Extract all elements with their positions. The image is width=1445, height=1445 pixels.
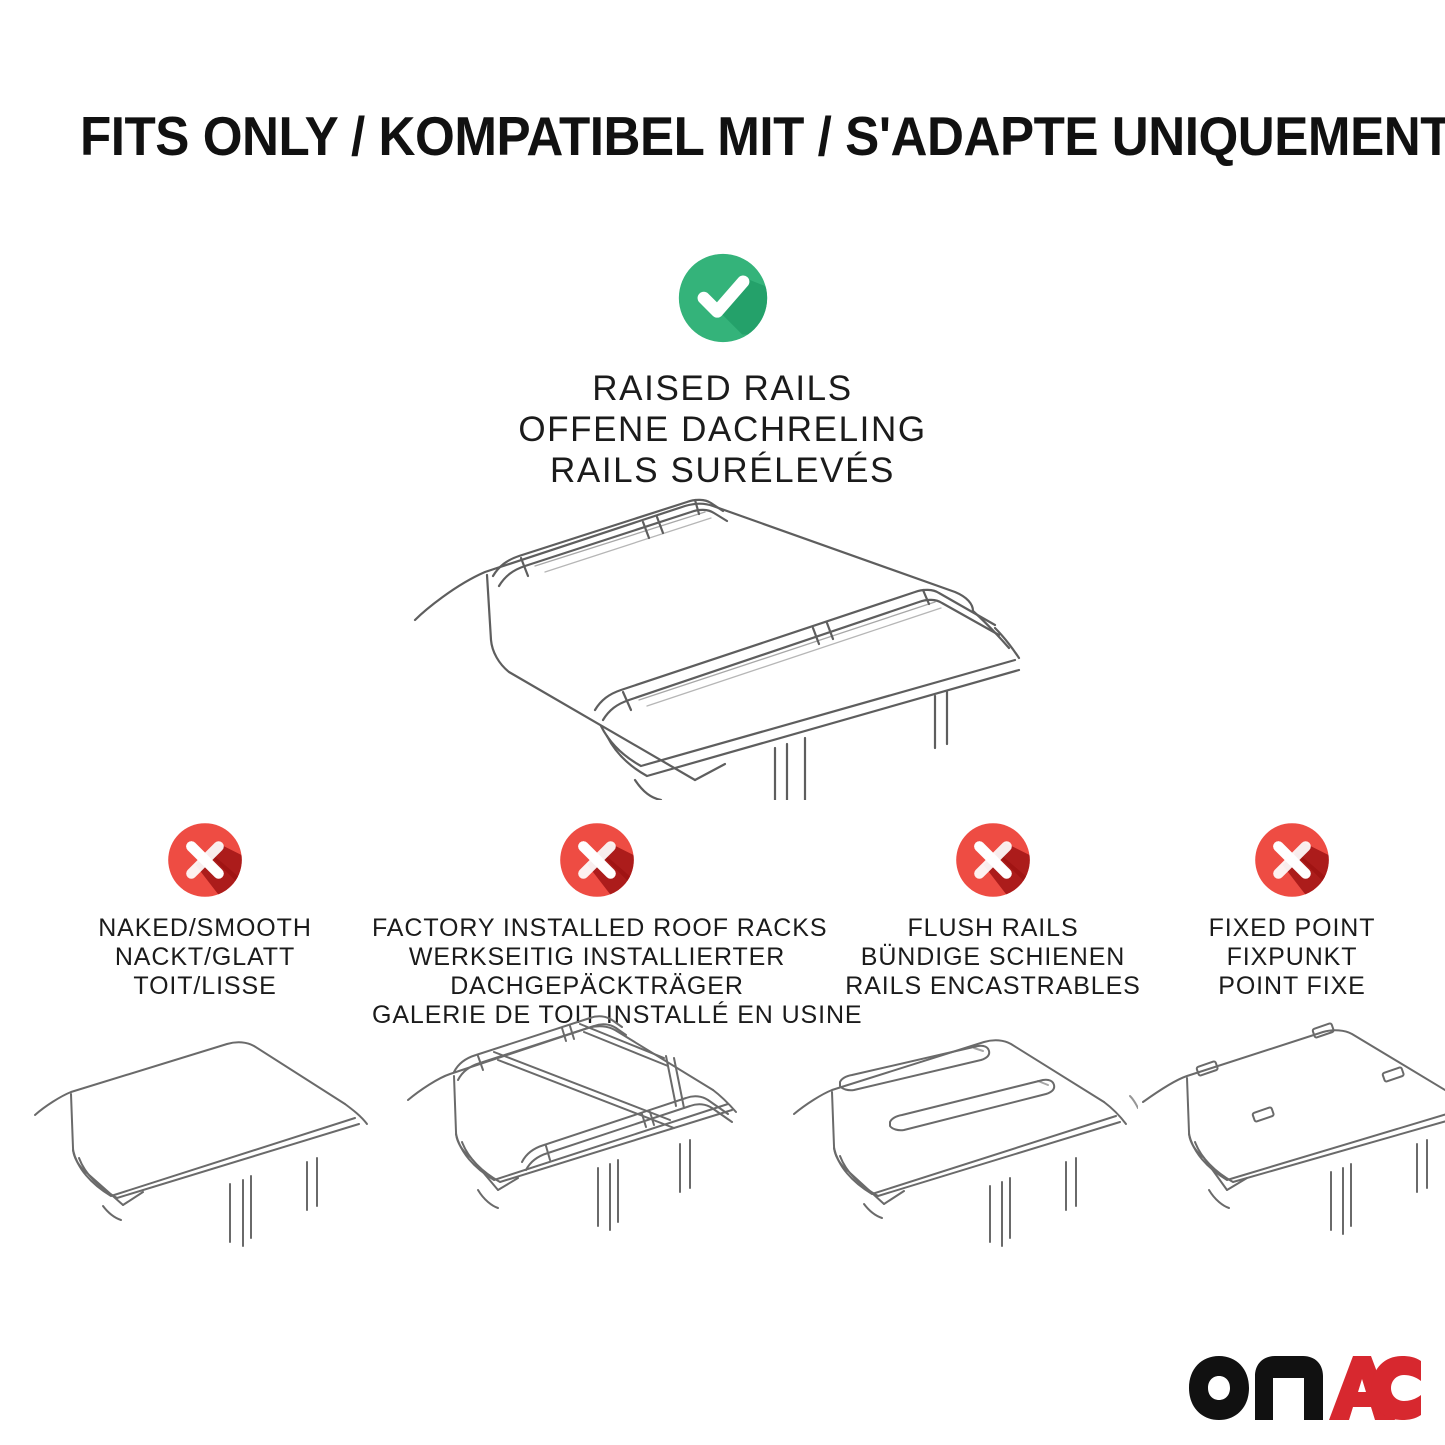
incompatible-label-fr: POINT FIXE <box>1162 972 1422 1001</box>
compatible-labels: RAISED RAILS OFFENE DACHRELING RAILS SUR… <box>0 368 1445 491</box>
incompatible-labels: FIXED POINT FIXPUNKT POINT FIXE <box>1162 914 1422 1001</box>
compatible-label-en: RAISED RAILS <box>0 368 1445 409</box>
page-title: FITS ONLY / KOMPATIBEL MIT / S'ADAPTE UN… <box>80 104 1280 168</box>
car-roof-factory-racks-illustration <box>398 1010 758 1245</box>
incompatible-label-en: FLUSH RAILS <box>838 914 1148 943</box>
incompatible-label-en: NAKED/SMOOTH <box>55 914 355 943</box>
incompatible-label-de: NACKT/GLATT <box>55 943 355 972</box>
incompatible-column-naked-smooth: NAKED/SMOOTH NACKT/GLATT TOIT/LISSE <box>55 820 355 1001</box>
logo-letter-o <box>1189 1356 1249 1420</box>
x-circle-icon <box>557 820 637 900</box>
logo-letter-m <box>1255 1356 1323 1420</box>
x-circle-icon <box>953 820 1033 900</box>
incompatible-label-de: BÜNDIGE SCHIENEN <box>838 943 1148 972</box>
fitment-infographic: FITS ONLY / KOMPATIBEL MIT / S'ADAPTE UN… <box>0 0 1445 1445</box>
car-roof-fixed-point-illustration <box>1135 1020 1445 1255</box>
compatible-section: RAISED RAILS OFFENE DACHRELING RAILS SUR… <box>0 250 1445 491</box>
incompatible-column-factory-roof-racks: FACTORY INSTALLED ROOF RACKS WERKSEITIG … <box>372 820 822 1030</box>
incompatible-labels: FLUSH RAILS BÜNDIGE SCHIENEN RAILS ENCAS… <box>838 914 1148 1001</box>
incompatible-label-en: FACTORY INSTALLED ROOF RACKS <box>372 914 822 943</box>
incompatible-column-fixed-point: FIXED POINT FIXPUNKT POINT FIXE <box>1162 820 1422 1001</box>
incompatible-label-en: FIXED POINT <box>1162 914 1422 943</box>
omac-logo <box>1185 1352 1423 1424</box>
incompatible-label-fr: TOIT/LISSE <box>55 972 355 1001</box>
logo-letter-c <box>1371 1356 1421 1420</box>
incompatible-label-de: FIXPUNKT <box>1162 943 1422 972</box>
car-roof-raised-rails-illustration <box>395 480 1045 800</box>
x-circle-icon <box>1252 820 1332 900</box>
x-circle-icon <box>165 820 245 900</box>
check-circle-icon <box>675 250 771 346</box>
incompatible-label-de-1: WERKSEITIG INSTALLIERTER <box>372 943 822 972</box>
incompatible-label-fr: RAILS ENCASTRABLES <box>838 972 1148 1001</box>
incompatible-column-flush-rails: FLUSH RAILS BÜNDIGE SCHIENEN RAILS ENCAS… <box>838 820 1148 1001</box>
incompatible-label-de-2: DACHGEPÄCKTRÄGER <box>372 972 822 1001</box>
car-roof-flush-rails-illustration <box>778 1020 1138 1255</box>
car-roof-naked-illustration <box>15 1020 375 1255</box>
compatible-label-de: OFFENE DACHRELING <box>0 409 1445 450</box>
incompatible-labels: NAKED/SMOOTH NACKT/GLATT TOIT/LISSE <box>55 914 355 1001</box>
